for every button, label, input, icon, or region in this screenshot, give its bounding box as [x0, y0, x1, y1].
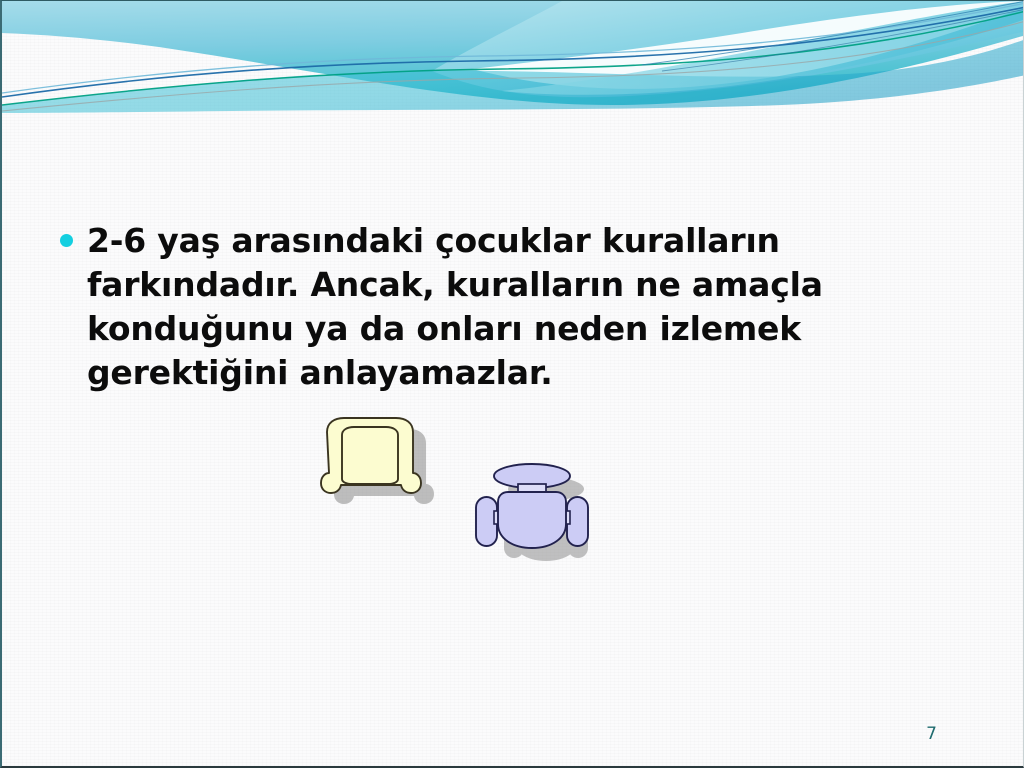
cream-armchair-body — [321, 418, 421, 493]
slide-body-content: 2-6 yaş arasındaki çocuklar kuralların f… — [60, 219, 850, 395]
lilac-armchair-image — [468, 453, 608, 568]
bullet-item-text: 2-6 yaş arasındaki çocuklar kuralların f… — [87, 219, 850, 395]
bullet-marker-icon — [60, 234, 73, 247]
slide-page-number: 7 — [926, 724, 937, 744]
slide-header-wave-banner — [2, 1, 1024, 113]
cream-armchair-image — [302, 409, 432, 519]
bullet-list-item: 2-6 yaş arasındaki çocuklar kuralların f… — [60, 219, 850, 395]
presentation-slide: 2-6 yaş arasındaki çocuklar kuralların f… — [0, 0, 1024, 768]
lilac-armchair-body — [476, 464, 588, 548]
chair-seat — [498, 492, 566, 548]
